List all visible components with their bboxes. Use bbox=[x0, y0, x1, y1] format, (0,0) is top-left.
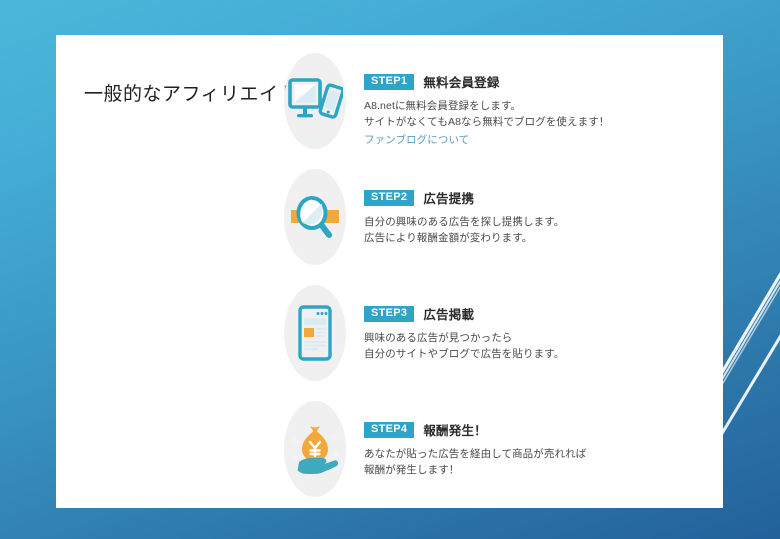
step-body: STEP3 広告掲載 興味のある広告が見つかったら 自分のサイトやブログで広告を… bbox=[352, 281, 708, 363]
webpage-ad-placement-icon bbox=[287, 304, 343, 362]
step-icon-wrapper bbox=[278, 49, 352, 153]
step-icon-wrapper bbox=[278, 165, 352, 269]
step-title: 報酬発生！ bbox=[423, 420, 487, 439]
step-body: STEP2 広告提携 自分の興味のある広告を探し提携します。 広告により報酬金額… bbox=[352, 165, 708, 247]
content-card: 一般的なアフィリエイト bbox=[56, 35, 723, 508]
step-description-line: A8.netに無料会員登録をします。 bbox=[364, 98, 708, 114]
fan-blog-link[interactable]: ファンブログについて bbox=[364, 132, 708, 148]
page-title: 一般的なアフィリエイト bbox=[78, 83, 304, 108]
status-badge: STEP2 bbox=[364, 190, 414, 206]
step-icon-wrapper bbox=[278, 397, 352, 501]
steps-list: STEP1 無料会員登録 A8.netに無料会員登録をします。 サイトがなくても… bbox=[278, 49, 708, 513]
step-description-line: 広告により報酬金額が変わります。 bbox=[364, 230, 708, 246]
step-title: 広告提携 bbox=[423, 188, 474, 207]
hand-money-bag-yen-icon bbox=[286, 420, 344, 478]
step-title: 広告掲載 bbox=[423, 304, 474, 323]
step-title-row: STEP1 無料会員登録 bbox=[364, 72, 708, 91]
step-description-line: 自分の興味のある広告を探し提携します。 bbox=[364, 214, 708, 230]
step-icon-wrapper bbox=[278, 281, 352, 385]
devices-monitor-smartphone-icon bbox=[287, 74, 343, 128]
slide-canvas: 一般的なアフィリエイト bbox=[0, 0, 780, 539]
step-body: STEP1 無料会員登録 A8.netに無料会員登録をします。 サイトがなくても… bbox=[352, 49, 708, 148]
step-title-row: STEP2 広告提携 bbox=[364, 188, 708, 207]
step-description-line: 報酬が発生します！ bbox=[364, 462, 708, 478]
step-title: 無料会員登録 bbox=[423, 72, 499, 91]
status-badge: STEP3 bbox=[364, 306, 414, 322]
list-item: STEP2 広告提携 自分の興味のある広告を探し提携します。 広告により報酬金額… bbox=[278, 165, 708, 281]
status-badge: STEP1 bbox=[364, 74, 414, 90]
step-description-line: 自分のサイトやブログで広告を貼ります。 bbox=[364, 346, 708, 362]
list-item: STEP4 報酬発生！ あなたが貼った広告を経由して商品が売れれば 報酬が発生し… bbox=[278, 397, 708, 513]
step-body: STEP4 報酬発生！ あなたが貼った広告を経由して商品が売れれば 報酬が発生し… bbox=[352, 397, 708, 479]
step-description-line: あなたが貼った広告を経由して商品が売れれば bbox=[364, 446, 708, 462]
step-title-row: STEP4 報酬発生！ bbox=[364, 420, 708, 439]
list-item: STEP3 広告掲載 興味のある広告が見つかったら 自分のサイトやブログで広告を… bbox=[278, 281, 708, 397]
magnifying-glass-banner-icon bbox=[287, 190, 343, 244]
step-description-line: サイトがなくてもA8なら無料でブログを使えます！ bbox=[364, 114, 708, 130]
list-item: STEP1 無料会員登録 A8.netに無料会員登録をします。 サイトがなくても… bbox=[278, 49, 708, 165]
status-badge: STEP4 bbox=[364, 422, 414, 438]
step-description-line: 興味のある広告が見つかったら bbox=[364, 330, 708, 346]
step-title-row: STEP3 広告掲載 bbox=[364, 304, 708, 323]
